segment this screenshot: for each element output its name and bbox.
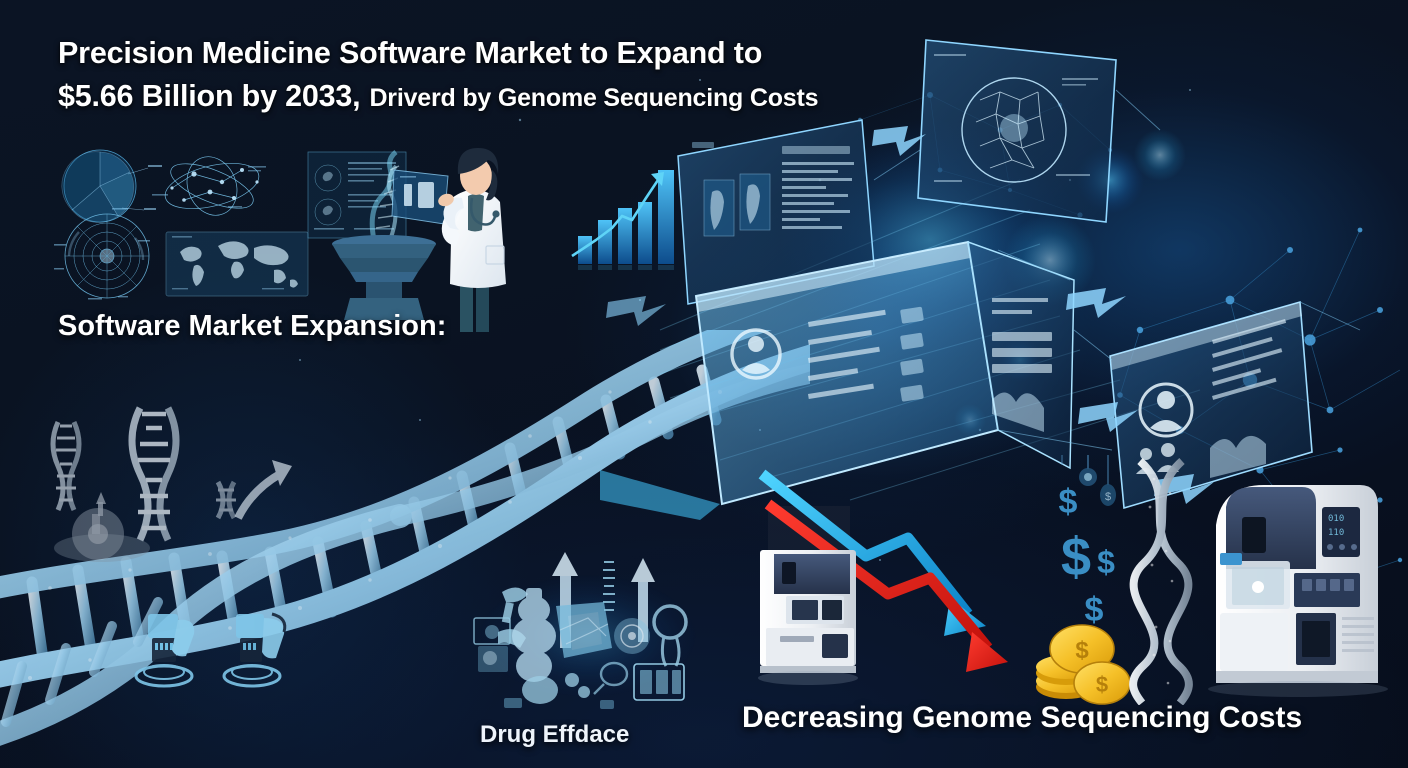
lab-equipment-icons <box>40 400 340 700</box>
money-dna-sequencer-scene: $ $ $ $ $ $ $ <box>1030 455 1408 705</box>
dna-strand-front <box>0 352 810 686</box>
bar-4 <box>638 202 652 264</box>
holographic-tablet-screen <box>392 170 448 224</box>
holographic-dna-projection <box>362 152 406 247</box>
genome-sequencer-machine-left <box>758 550 858 685</box>
profile-chart-thumb <box>1210 436 1266 478</box>
svg-text:010: 010 <box>1328 514 1344 524</box>
dna-strand-back <box>0 330 810 598</box>
cost-arrow-red <box>768 504 1008 672</box>
medical-kit-icon <box>634 664 684 700</box>
doctor-with-hologram-scene <box>300 140 532 332</box>
small-dna-helix-left <box>53 422 79 510</box>
patient-profile-card <box>1110 302 1312 508</box>
headline-line-1: Precision Medicine Software Market to Ex… <box>58 32 1068 74</box>
dashboard-data-rows <box>808 310 886 399</box>
doctor-face <box>460 157 492 195</box>
pipette-robot-left <box>136 614 194 686</box>
record-text-lines <box>782 146 854 229</box>
doctor-lab-coat <box>450 190 506 288</box>
bar-reflections <box>578 265 674 270</box>
holo-light-beams <box>660 180 1200 500</box>
declining-cost-arrows-scene <box>740 466 1060 701</box>
doctor-leg-right <box>476 280 489 332</box>
stethoscope <box>471 198 496 225</box>
network-glow-nodes <box>780 120 1186 436</box>
doctor-figure <box>436 148 506 332</box>
trend-arrow <box>572 172 664 256</box>
headline-line-2-subtext: Driverd by Genome Sequencing Costs <box>369 76 818 120</box>
bar-1 <box>578 236 592 264</box>
bar-series <box>578 170 674 264</box>
dna-texture-speckles <box>28 390 722 680</box>
syringe-icon <box>474 618 510 672</box>
polar-radar-chart-icon <box>65 214 149 298</box>
microscope-icon <box>498 587 528 648</box>
doctor-hair <box>458 148 498 174</box>
lab-flask-icon <box>512 588 556 682</box>
genome-sequencer-machine-right: 010110 <box>1208 485 1388 697</box>
svg-text:$: $ <box>1105 491 1111 503</box>
falling-dollar-signs: $ $ $ $ <box>1059 483 1116 629</box>
svg-text:$: $ <box>1075 637 1089 664</box>
dna-chip-icon <box>603 562 615 610</box>
rising-bar-chart <box>566 158 698 270</box>
patient-record-panel <box>678 120 874 304</box>
doctor-leg-left <box>460 280 473 332</box>
svg-text:$: $ <box>1061 527 1091 587</box>
gold-coin-stack: $ $ <box>1036 625 1130 704</box>
hologram-pedestal <box>332 235 436 320</box>
holographic-analytics-cluster <box>52 148 314 300</box>
area-chart-thumb <box>992 392 1044 432</box>
bar-2 <box>598 220 612 264</box>
dna-base-pairs <box>0 370 716 676</box>
arrow-flow-connectors <box>606 126 1214 504</box>
pharma-icon-cluster <box>448 540 720 718</box>
headline-market-value: $5.66 Billion by 2033, <box>58 74 360 118</box>
dna-double-helix-large <box>0 330 810 768</box>
radial-pie-chart-icon <box>62 150 162 222</box>
svg-text:$: $ <box>1096 672 1108 697</box>
data-list-panel <box>968 242 1074 468</box>
svg-text:$: $ <box>1097 544 1115 580</box>
label-decreasing-sequencing-costs: Decreasing Genome Sequencing Costs <box>742 701 1302 735</box>
centrifuge-platform-icon <box>54 492 150 562</box>
doctor-scrub-top <box>468 194 484 232</box>
label-drug-efficacy: Drug Effdace <box>480 721 629 749</box>
svg-text:$: $ <box>1059 483 1078 521</box>
gauge-icon <box>614 618 650 654</box>
up-arrow-right <box>631 558 655 642</box>
medical-scan-panel <box>308 152 406 238</box>
magnifier-icon <box>594 663 627 694</box>
pill-capsule-icon <box>522 673 590 704</box>
group-icon <box>1136 443 1179 474</box>
small-dna-helix-right <box>216 482 236 518</box>
pipette-robot-right <box>224 614 285 686</box>
label-software-market-expansion: Software Market Expansion: <box>58 310 446 343</box>
xray-thumbnails <box>704 174 770 236</box>
doctor-arm-left <box>442 204 464 246</box>
user-lock-icon <box>732 330 780 378</box>
pharma-machine-icon <box>556 602 612 658</box>
cost-arrow-cyan <box>762 474 986 636</box>
svg-text:$: $ <box>1085 591 1104 629</box>
molecule-nodes <box>170 168 258 202</box>
headline-block: Precision Medicine Software Market to Ex… <box>58 32 1068 120</box>
molecular-network-icon <box>161 149 264 223</box>
bar-5 <box>658 170 674 264</box>
price-tag-icons: $ <box>1062 455 1116 506</box>
svg-text:110: 110 <box>1328 528 1344 538</box>
world-map-panel-icon <box>166 232 308 296</box>
doctor-hand <box>436 192 455 209</box>
coat-pocket <box>486 246 504 264</box>
stethoscope-loop-icon <box>654 606 686 666</box>
silver-dna-helix <box>1133 461 1189 703</box>
small-dna-helix-mid <box>132 408 176 540</box>
bar-3 <box>618 208 632 264</box>
avatar-icon <box>1140 384 1192 436</box>
genomic-dashboard-panel <box>600 242 1074 520</box>
growth-arrow-icon <box>238 460 292 518</box>
infographic-banner: $ $ $ $ $ $ $ <box>0 0 1408 768</box>
up-arrow-left <box>552 552 578 648</box>
